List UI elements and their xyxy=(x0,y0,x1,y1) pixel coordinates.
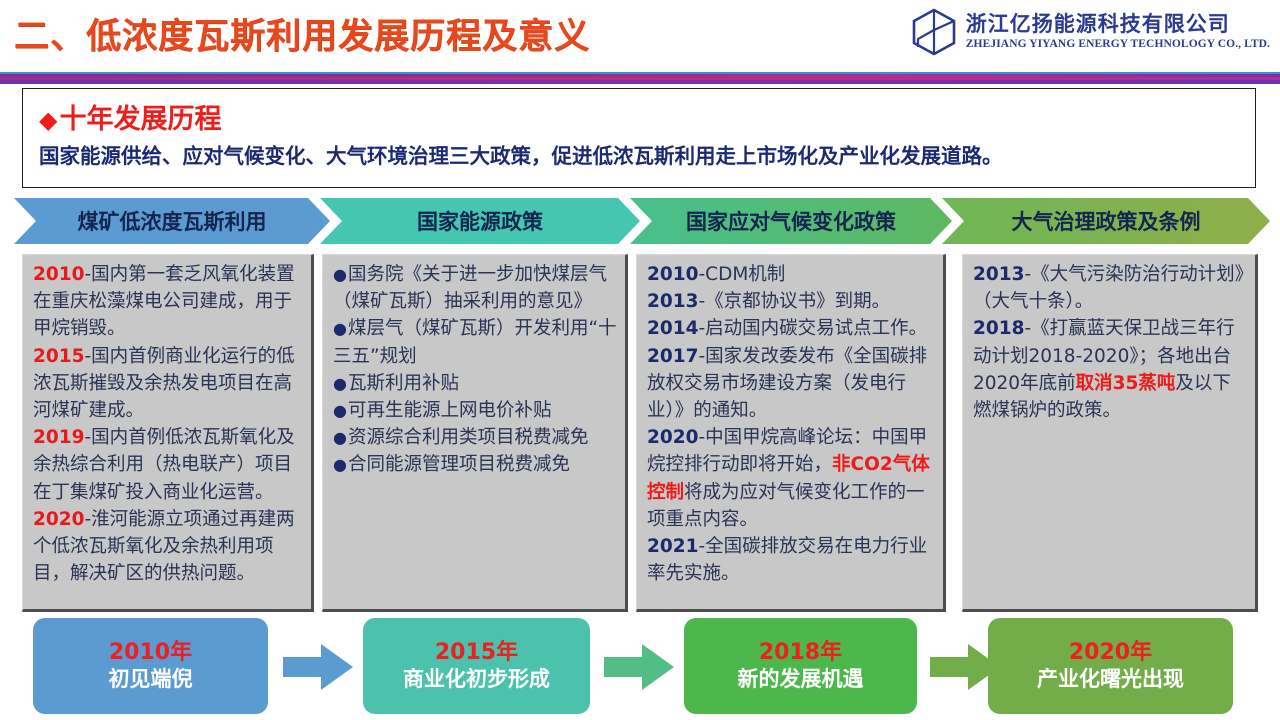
company-logo: 浙江亿扬能源科技有限公司 ZHEJIANG YIYANG ENERGY TECH… xyxy=(912,8,1270,56)
entry-year: 2017 xyxy=(647,346,699,367)
stage-arrow-1-icon xyxy=(283,644,353,690)
timeline-entry: 2015-国内首例商业化运行的低浓瓦斯摧毁及余热发电项目在高河煤矿建成。 xyxy=(33,343,303,425)
stage-box-1[interactable]: 2015年 商业化初步形成 xyxy=(363,618,590,714)
timeline-entry: 2010-CDM机制 xyxy=(647,261,935,288)
stage-row: 2010年 初见端倪 2015年 商业化初步形成 2018年 新的发展机遇 20… xyxy=(0,618,1280,720)
bullet-text: 可再生能源上网电价补贴 xyxy=(348,400,552,421)
timeline-entry: 2013-《京都协议书》到期。 xyxy=(647,288,935,315)
entry-year: 2014 xyxy=(647,318,699,339)
bullet-dot-icon: ● xyxy=(333,401,347,420)
stage-year: 2015年 xyxy=(435,641,518,665)
stage-box-3[interactable]: 2020年 产业化曙光出现 xyxy=(988,618,1233,714)
entry-year: 2019 xyxy=(33,427,85,448)
entry-year: 2020 xyxy=(33,509,85,530)
bullet-item: ●资源综合利用类项目税费减免 xyxy=(333,424,617,451)
company-name-en: ZHEJIANG YIYANG ENERGY TECHNOLOGY CO., L… xyxy=(966,38,1270,50)
entry-year: 2013 xyxy=(973,264,1025,285)
summary-panel: ◆十年发展历程 国家能源供给、应对气候变化、大气环境治理三大政策，促进低浓瓦斯利… xyxy=(22,88,1256,188)
bullet-text: 国务院《关于进一步加快煤层气（煤矿瓦斯）抽采利用的意见》 xyxy=(333,264,607,312)
bullet-item: ●国务院《关于进一步加快煤层气（煤矿瓦斯）抽采利用的意见》 xyxy=(333,261,617,315)
panel-subtitle: 国家能源供给、应对气候变化、大气环境治理三大政策，促进低浓瓦斯利用走上市场化及产… xyxy=(39,139,1003,169)
entry-text: -启动国内碳交易试点工作。 xyxy=(699,318,928,339)
chevron-banner-3[interactable]: 大气治理政策及条例 xyxy=(942,198,1270,244)
panel-heading-text: 十年发展历程 xyxy=(59,104,221,135)
chevron-banner-0[interactable]: 煤矿低浓度瓦斯利用 xyxy=(14,198,330,244)
bullet-item: ●煤层气（煤矿瓦斯）开发利用“十三五”规划 xyxy=(333,315,617,369)
timeline-entry: 2020-淮河能源立项通过再建两个低浓瓦斯氧化及余热利用项目，解决矿区的供热问题… xyxy=(33,506,303,588)
bullet-text: 瓦斯利用补贴 xyxy=(348,373,459,394)
content-columns: 2010-国内第一套乏风氧化装置在重庆松藻煤电公司建成，用于甲烷销毁。2015-… xyxy=(22,254,1258,612)
timeline-entry: 2021-全国碳排放交易在电力行业率先实施。 xyxy=(647,533,935,587)
company-name-cn: 浙江亿扬能源科技有限公司 xyxy=(966,13,1270,35)
bullet-text: 煤层气（煤矿瓦斯）开发利用“十三五”规划 xyxy=(333,318,617,366)
timeline-entry: 2018-《打赢蓝天保卫战三年行动计划2018-2020》；各地出台2020年底… xyxy=(973,315,1247,424)
entry-text: -CDM机制 xyxy=(699,264,786,285)
entry-year: 2021 xyxy=(647,536,699,557)
stage-box-0[interactable]: 2010年 初见端倪 xyxy=(33,618,268,714)
stage-box-2[interactable]: 2018年 新的发展机遇 xyxy=(684,618,917,714)
entry-text-after: 将成为应对气候变化工作的一项重点内容。 xyxy=(647,482,925,530)
bullet-dot-icon: ● xyxy=(333,374,347,393)
stage-year: 2010年 xyxy=(109,641,192,665)
stage-arrow-2-icon xyxy=(604,644,674,690)
chevron-banner-1[interactable]: 国家能源政策 xyxy=(320,198,640,244)
decorative-band xyxy=(0,72,1280,84)
bullet-dot-icon: ● xyxy=(333,455,347,474)
stage-label: 初见端倪 xyxy=(109,667,193,691)
timeline-entry: 2019-国内首例低浓瓦斯氧化及余热综合利用（热电联产）项目在丁集煤矿投入商业化… xyxy=(33,424,303,506)
entry-year: 2015 xyxy=(33,346,85,367)
stage-label: 产业化曙光出现 xyxy=(1037,667,1184,691)
timeline-entry: 2010-国内第一套乏风氧化装置在重庆松藻煤电公司建成，用于甲烷销毁。 xyxy=(33,261,303,343)
bullet-dot-icon: ● xyxy=(333,319,347,338)
content-box-national-climate-change-policy: 2010-CDM机制2013-《京都协议书》到期。2014-启动国内碳交易试点工… xyxy=(636,254,946,612)
bullet-item: ●可再生能源上网电价补贴 xyxy=(333,397,617,424)
timeline-entry: 2017-国家发改委发布《全国碳排放权交易市场建设方案（发电行业）》的通知。 xyxy=(647,343,935,425)
content-box-air-pollution-governance-policy: 2013-《大气污染防治行动计划》（大气十条）。2018-《打赢蓝天保卫战三年行… xyxy=(962,254,1258,612)
stage-year: 2020年 xyxy=(1069,641,1152,665)
bullet-dot-icon: ● xyxy=(333,428,347,447)
panel-heading: ◆十年发展历程 xyxy=(39,97,221,136)
chevron-label: 大气治理政策及条例 xyxy=(1012,206,1201,236)
content-box-coal-mine-low-concentration-gas-utilization: 2010-国内第一套乏风氧化装置在重庆松藻煤电公司建成，用于甲烷销毁。2015-… xyxy=(22,254,314,612)
bullet-text: 资源综合利用类项目税费减免 xyxy=(348,427,589,448)
hexagon-cube-logo-icon xyxy=(912,8,956,56)
bullet-item: ●合同能源管理项目税费减免 xyxy=(333,451,617,478)
entry-year: 2010 xyxy=(33,264,85,285)
chevron-label: 国家应对气候变化政策 xyxy=(686,206,896,236)
entry-year: 2018 xyxy=(973,318,1025,339)
entry-text: -《京都协议书》到期。 xyxy=(699,291,891,312)
entry-year: 2010 xyxy=(647,264,699,285)
bullet-item: ●瓦斯利用补贴 xyxy=(333,370,617,397)
entry-highlight: 取消35蒸吨 xyxy=(1076,373,1176,394)
chevron-banner-2[interactable]: 国家应对气候变化政策 xyxy=(630,198,952,244)
timeline-entry: 2013-《大气污染防治行动计划》（大气十条）。 xyxy=(973,261,1247,315)
bullet-text: 合同能源管理项目税费减免 xyxy=(348,454,570,475)
stage-year: 2018年 xyxy=(759,641,842,665)
timeline-entry: 2014-启动国内碳交易试点工作。 xyxy=(647,315,935,342)
slide-header: 二、低浓度瓦斯利用发展历程及意义 浙江亿扬能源科技有限公司 ZHEJIANG Y… xyxy=(0,0,1280,76)
entry-year: 2013 xyxy=(647,291,699,312)
chevron-banner-row: 煤矿低浓度瓦斯利用 国家能源政策 国家应对气候变化政策 大气治理政策及条例 xyxy=(14,198,1270,244)
chevron-label: 国家能源政策 xyxy=(417,206,543,236)
page-title: 二、低浓度瓦斯利用发展历程及意义 xyxy=(14,8,590,59)
content-box-national-energy-policy: ●国务院《关于进一步加快煤层气（煤矿瓦斯）抽采利用的意见》●煤层气（煤矿瓦斯）开… xyxy=(322,254,628,612)
bullet-dot-icon: ● xyxy=(333,265,347,284)
diamond-bullet-icon: ◆ xyxy=(39,106,57,134)
timeline-entry: 2020-中国甲烷高峰论坛：中国甲烷控排行动即将开始，非CO2气体控制将成为应对… xyxy=(647,424,935,533)
stage-label: 新的发展机遇 xyxy=(738,667,864,691)
entry-year: 2020 xyxy=(647,427,699,448)
stage-label: 商业化初步形成 xyxy=(403,667,550,691)
chevron-label: 煤矿低浓度瓦斯利用 xyxy=(78,206,267,236)
